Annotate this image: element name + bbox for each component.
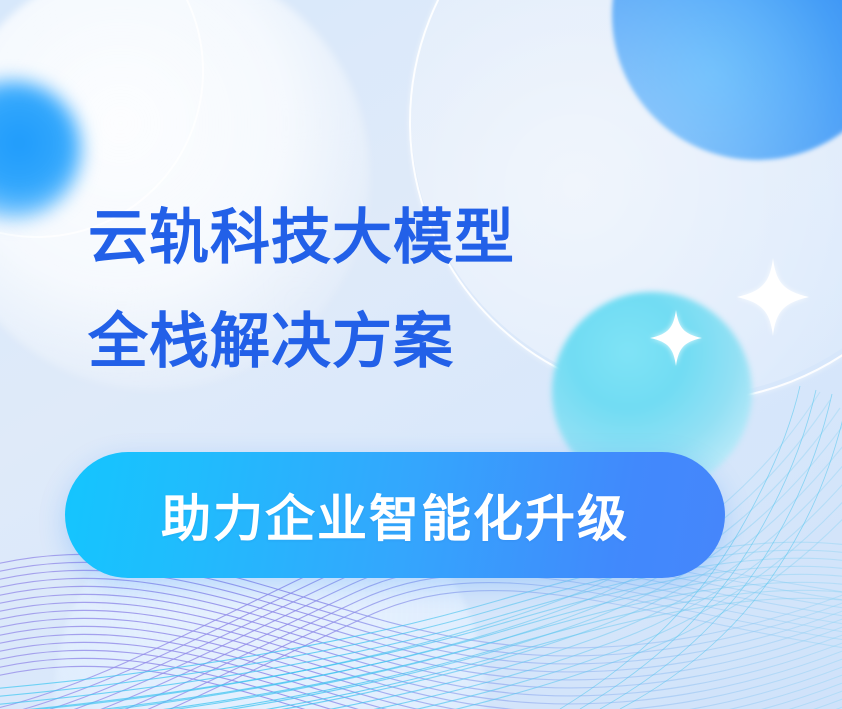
- headline-line-1: 云轨科技大模型: [88, 186, 515, 290]
- banner-content: 云轨科技大模型 全栈解决方案 助力企业智能化升级: [0, 0, 842, 709]
- headline-line-2: 全栈解决方案: [88, 290, 515, 394]
- page-title: 云轨科技大模型 全栈解决方案: [88, 186, 515, 394]
- promo-banner: 云轨科技大模型 全栈解决方案 助力企业智能化升级: [0, 0, 842, 709]
- cta-button[interactable]: 助力企业智能化升级: [65, 452, 725, 578]
- cta-button-label: 助力企业智能化升级: [161, 479, 629, 551]
